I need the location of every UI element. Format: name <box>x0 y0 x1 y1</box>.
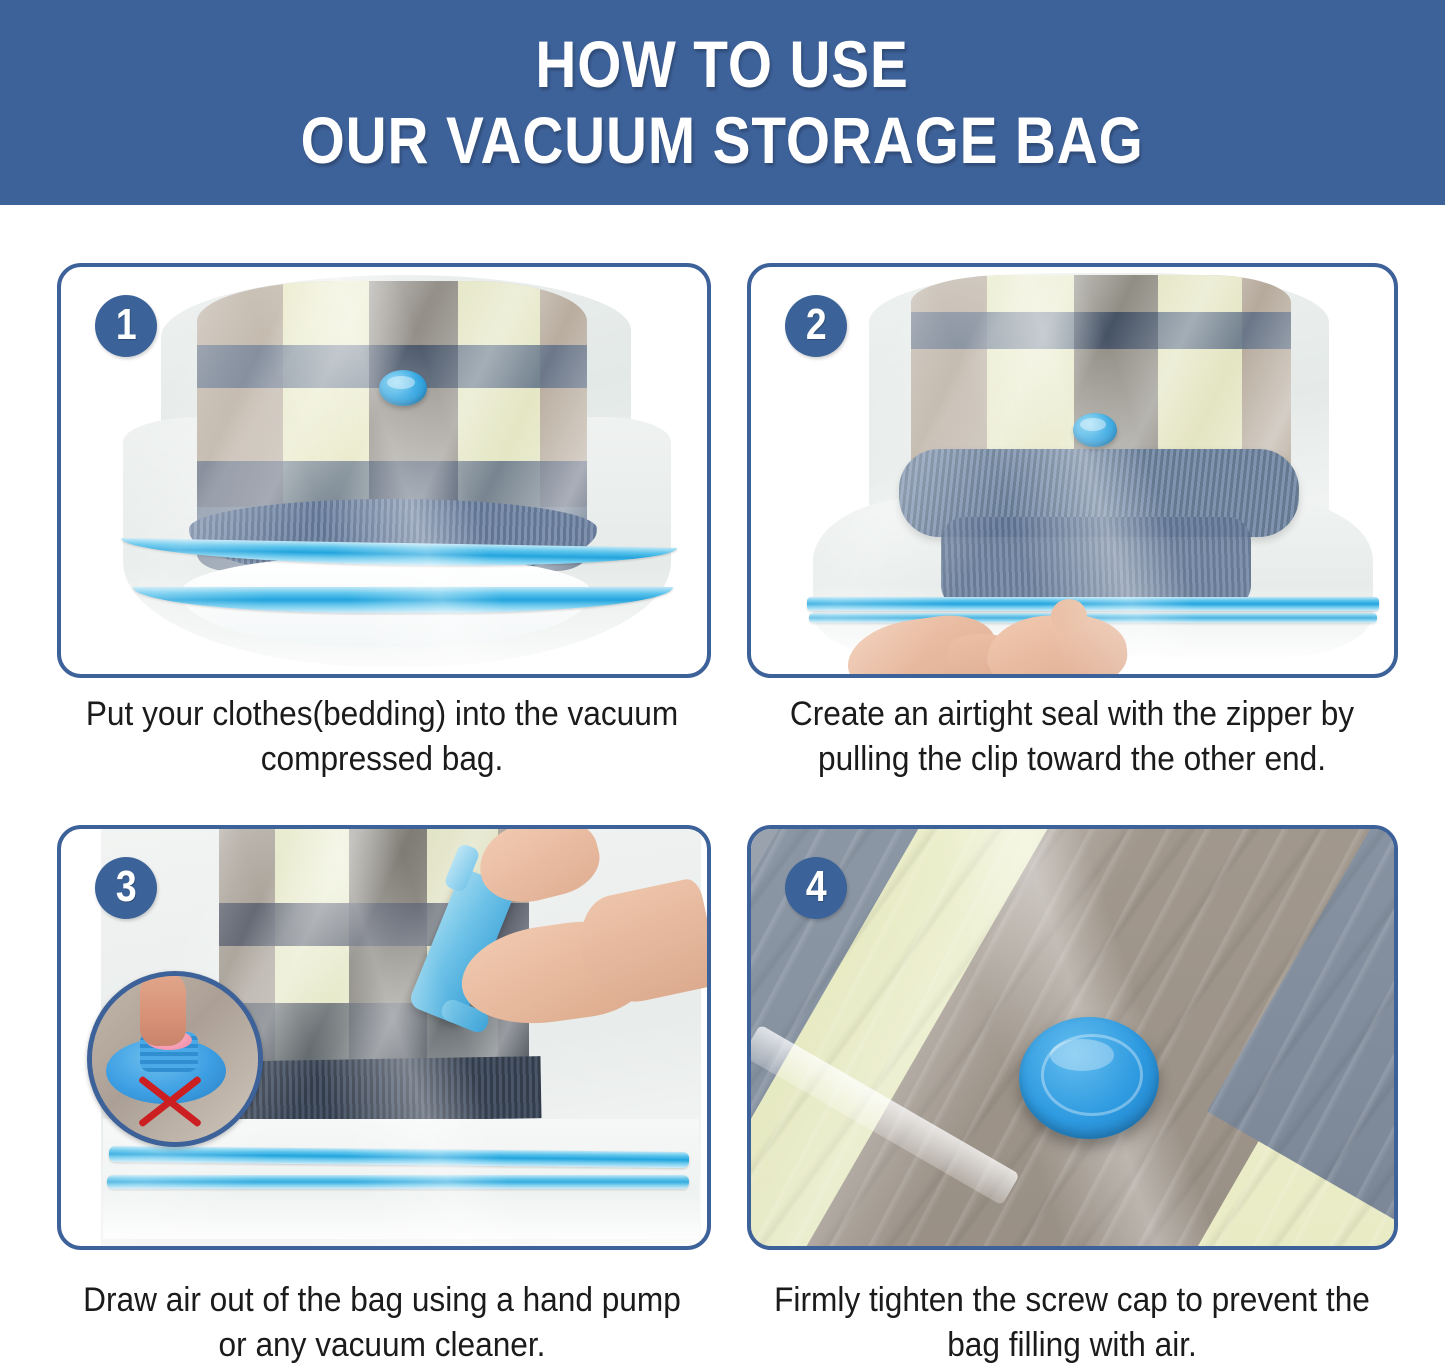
step-3-frame: 3 <box>57 825 711 1250</box>
step-1-frame: 1 <box>57 263 711 678</box>
valve-cap-icon <box>1073 413 1117 447</box>
inset-finger-icon <box>140 971 186 1046</box>
step-caption-1: Put your clothes(bedding) into the vacuu… <box>75 692 689 782</box>
valve-cap-icon <box>379 370 427 406</box>
step-number-4: 4 <box>806 865 827 909</box>
step-4-photo <box>751 829 1394 1246</box>
step-number-badge-3: 3 <box>95 857 157 919</box>
step-number-2: 2 <box>806 303 827 347</box>
step-card-4: 4 <box>747 825 1398 1250</box>
screw-cap-icon <box>1019 1017 1159 1139</box>
bedding-knit-roll-2 <box>941 517 1251 609</box>
step-caption-3: Draw air out of the bag using a hand pum… <box>75 1278 689 1368</box>
step-caption-2: Create an airtight seal with the zipper … <box>765 692 1379 782</box>
step-card-1: 1 <box>57 263 711 678</box>
step-1-photo <box>61 267 707 674</box>
step-number-1: 1 <box>116 303 137 347</box>
step-card-3: 3 <box>57 825 711 1250</box>
warning-inset-circle <box>87 971 263 1147</box>
step-card-2: 2 <box>747 263 1398 678</box>
step-number-badge-4: 4 <box>785 857 847 919</box>
step-caption-4: Firmly tighten the screw cap to prevent … <box>765 1278 1379 1368</box>
step-number-badge-2: 2 <box>785 295 847 357</box>
step-4-frame: 4 <box>747 825 1398 1250</box>
step-number-badge-1: 1 <box>95 295 157 357</box>
zipper-strip-lower <box>107 1175 689 1189</box>
step-2-frame: 2 <box>747 263 1398 678</box>
zipper-strip-sealed <box>807 597 1379 611</box>
step-2-photo <box>751 267 1394 674</box>
header-banner: HOW TO USE OUR VACUUM STORAGE BAG <box>0 0 1445 205</box>
step-number-3: 3 <box>116 865 137 909</box>
hand-right-thumb <box>1051 599 1087 633</box>
header-title-line-1: HOW TO USE <box>536 31 909 99</box>
steps-grid: 1 <box>0 205 1445 1364</box>
red-x-icon <box>132 1072 204 1132</box>
header-title-line-2: OUR VACUUM STORAGE BAG <box>301 107 1144 175</box>
